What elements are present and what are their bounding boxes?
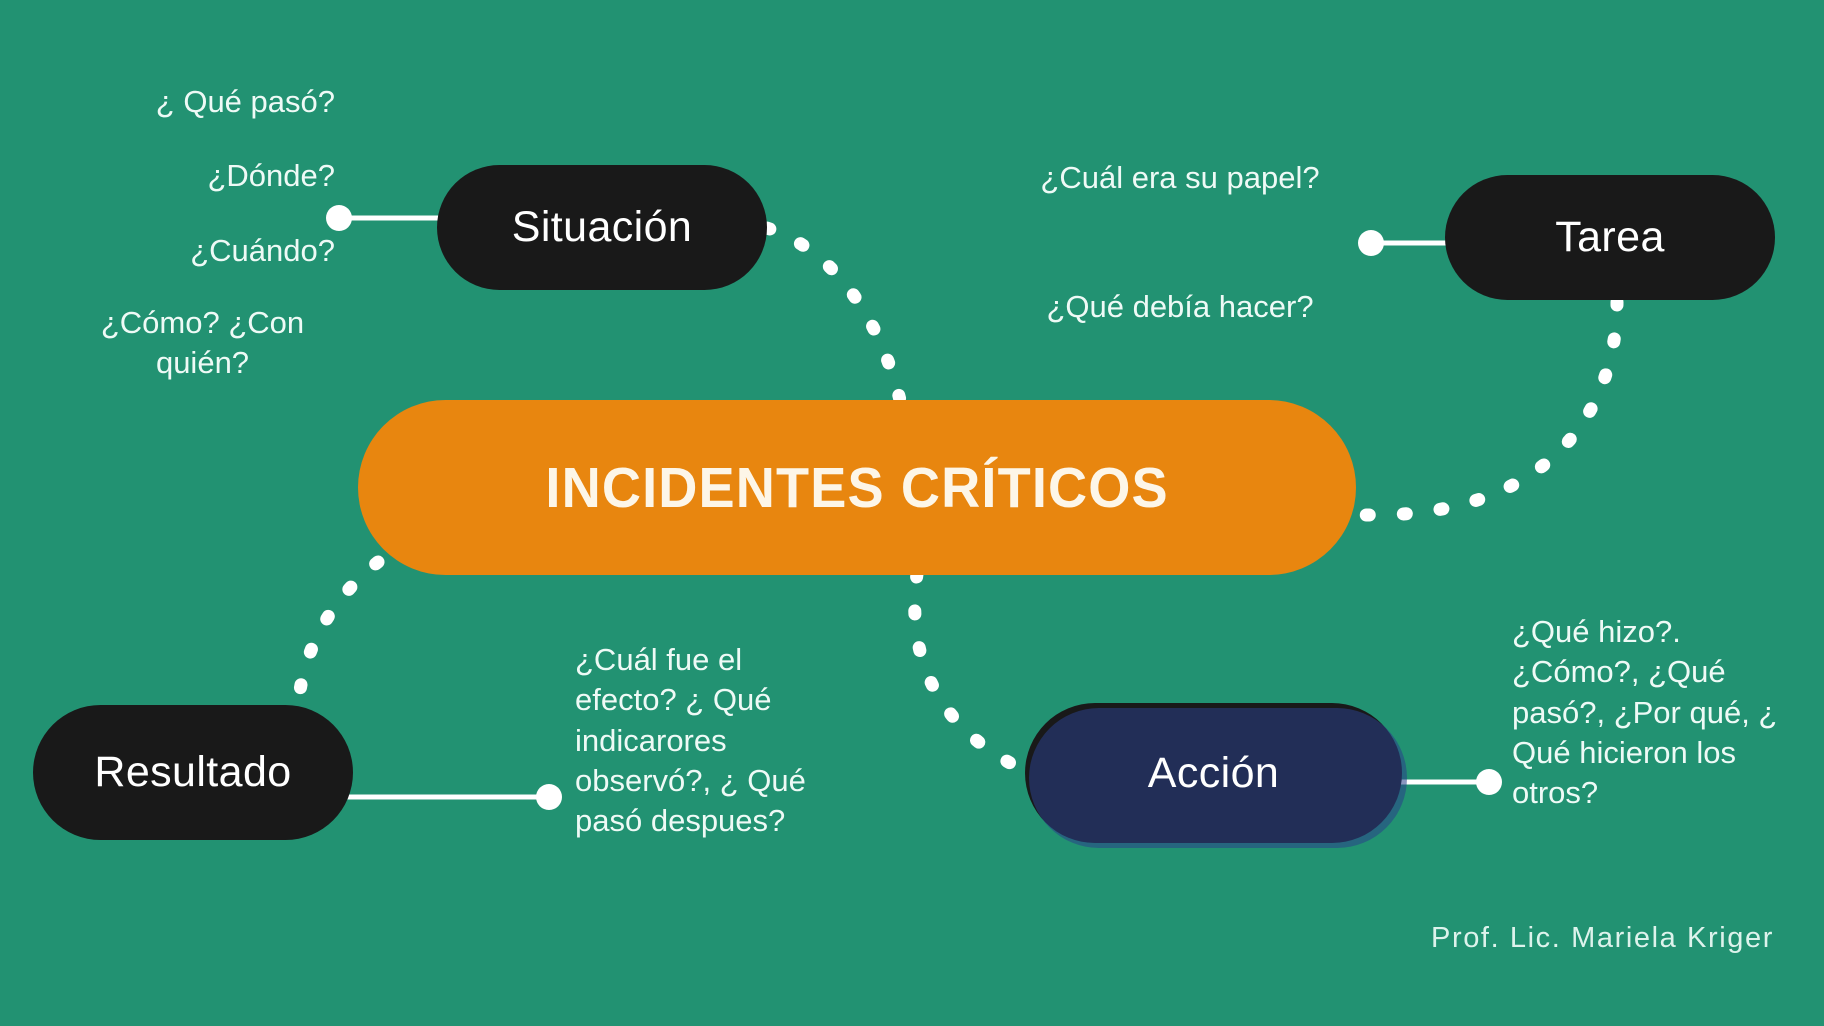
question-situacion-1: ¿ Qué pasó? <box>30 82 335 122</box>
stub-dot-accion <box>1476 769 1502 795</box>
node-resultado-label: Resultado <box>94 748 291 797</box>
central-node-label: INCIDENTES CRÍTICOS <box>545 455 1168 521</box>
node-accion[interactable]: Acción <box>1025 703 1402 843</box>
question-tarea-2: ¿Qué debía hacer? <box>960 287 1400 327</box>
node-accion-label: Acción <box>1148 749 1279 798</box>
dashed-link-hub-accion <box>915 574 1035 775</box>
question-tarea-1: ¿Cuál era su papel? <box>960 158 1400 198</box>
dashed-link-hub-resultado <box>298 562 378 706</box>
question-situacion-4: ¿Cómo? ¿Con quién? <box>70 303 335 384</box>
stub-dot-resultado <box>536 784 562 810</box>
central-node-incidentes-criticos[interactable]: INCIDENTES CRÍTICOS <box>358 400 1356 575</box>
question-resultado: ¿Cuál fue el efecto? ¿ Qué indicarores o… <box>575 640 850 841</box>
mindmap-canvas: ¿ Qué pasó? ¿Dónde? ¿Cuándo? ¿Cómo? ¿Con… <box>0 0 1824 1026</box>
question-accion: ¿Qué hizo?. ¿Cómo?, ¿Qué pasó?, ¿Por qué… <box>1512 612 1780 813</box>
attribution-text: Prof. Lic. Mariela Kriger <box>1431 922 1774 955</box>
question-situacion-2: ¿Dónde? <box>30 156 335 196</box>
stub-dot-tarea <box>1358 230 1384 256</box>
stub-dot-situacion <box>326 205 352 231</box>
node-tarea-label: Tarea <box>1555 213 1665 262</box>
node-tarea[interactable]: Tarea <box>1445 175 1775 300</box>
dashed-link-tarea-hub <box>1356 302 1617 515</box>
node-resultado[interactable]: Resultado <box>33 705 353 840</box>
question-situacion-3: ¿Cuándo? <box>30 231 335 271</box>
node-situacion[interactable]: Situación <box>437 165 767 290</box>
dashed-link-situacion-hub <box>767 228 900 400</box>
node-situacion-label: Situación <box>512 203 693 252</box>
